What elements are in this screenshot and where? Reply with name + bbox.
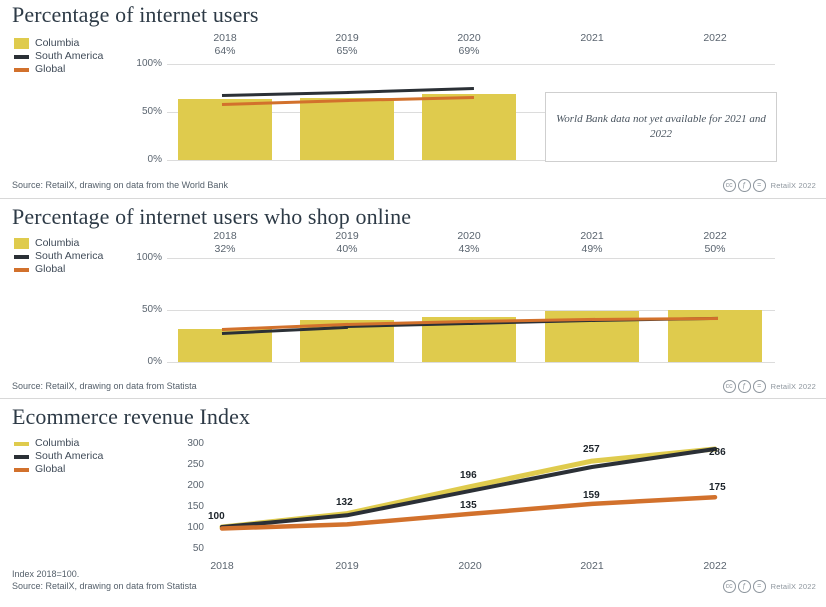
point-label: 132 — [336, 497, 353, 508]
cc-nd-icon: = — [753, 380, 766, 393]
gridline — [167, 362, 775, 363]
license-credit-2: cc ƒ = RetailX 2022 — [723, 380, 816, 393]
x-tick: 2019 — [317, 560, 377, 572]
chart-plot-1: 100% 50% 0% World Bank data not yet avai… — [0, 0, 826, 200]
credit-text: RetailX 2022 — [771, 582, 816, 591]
y-tick: 0% — [120, 356, 162, 367]
bar-2018 — [178, 99, 272, 160]
credit-text: RetailX 2022 — [771, 181, 816, 190]
x-tick: 2022 — [685, 560, 745, 572]
gridline — [167, 64, 775, 65]
y-tick: 50% — [120, 106, 162, 117]
creative-commons-icon: cc — [723, 380, 736, 393]
bar-2020 — [422, 94, 516, 160]
point-label: 100 — [208, 511, 225, 522]
point-label: 135 — [460, 500, 477, 511]
source-note-3: Source: RetailX, drawing on data from St… — [12, 581, 197, 591]
y-tick: 0% — [120, 154, 162, 165]
credit-text: RetailX 2022 — [771, 382, 816, 391]
no-data-text: World Bank data not yet available for 20… — [546, 112, 776, 142]
point-label: 159 — [583, 490, 600, 501]
panel-ecommerce-index: Ecommerce revenue Index Columbia South A… — [0, 400, 826, 607]
chart-plot-2: 100% 50% 0% — [0, 200, 826, 400]
bar-2019 — [300, 98, 394, 160]
creative-commons-icon: cc — [723, 580, 736, 593]
x-tick: 2021 — [562, 560, 622, 572]
license-credit-1: cc ƒ = RetailX 2022 — [723, 179, 816, 192]
no-data-note: World Bank data not yet available for 20… — [545, 92, 777, 162]
x-tick: 2020 — [440, 560, 500, 572]
y-tick: 100% — [120, 58, 162, 69]
panel-shop-online: Percentage of internet users who shop on… — [0, 200, 826, 400]
line-south-america-seg — [222, 91, 349, 97]
point-label: 196 — [460, 470, 477, 481]
panel-divider — [0, 398, 826, 399]
gridline — [167, 258, 775, 259]
source-note-1: Source: RetailX, drawing on data from th… — [12, 180, 228, 190]
cc-nd-icon: = — [753, 179, 766, 192]
line-chart-svg — [0, 400, 826, 607]
chart-plot-3: 100 132 196 257 286 135 159 175 2018 201… — [0, 400, 826, 607]
cc-nd-icon: = — [753, 580, 766, 593]
panel-divider — [0, 198, 826, 199]
panel-internet-users: Percentage of internet users Columbia So… — [0, 0, 826, 200]
index-note: Index 2018=100. — [12, 569, 79, 579]
point-label: 286 — [709, 447, 726, 458]
cc-by-icon: ƒ — [738, 580, 751, 593]
point-label: 175 — [709, 482, 726, 493]
creative-commons-icon: cc — [723, 179, 736, 192]
cc-by-icon: ƒ — [738, 380, 751, 393]
y-tick: 50% — [120, 304, 162, 315]
cc-by-icon: ƒ — [738, 179, 751, 192]
point-label: 257 — [583, 444, 600, 455]
source-note-2: Source: RetailX, drawing on data from St… — [12, 381, 197, 391]
license-credit-3: cc ƒ = RetailX 2022 — [723, 580, 816, 593]
x-tick: 2018 — [192, 560, 252, 572]
y-tick: 100% — [120, 252, 162, 263]
